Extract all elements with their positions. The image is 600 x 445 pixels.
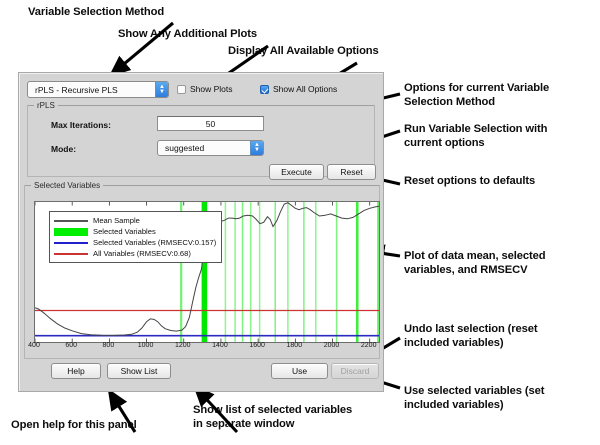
x-axis-tick-label: 2000 [324,342,340,349]
legend-label: All Variables (RMSECV:0.68) [93,249,191,258]
selected-variable-band [287,202,288,342]
legend-item: All Variables (RMSECV:0.68) [54,248,216,259]
legend-line-icon [54,242,88,244]
reset-button[interactable]: Reset [327,164,376,180]
legend-item: Mean Sample [54,215,216,226]
variable-selection-method-value: rPLS - Recursive PLS [28,85,155,95]
show-list-button[interactable]: Show List [107,363,171,379]
callout-reset-options-to-defaults: Reset options to defaults [404,175,535,189]
execute-button[interactable]: Execute [269,164,324,180]
legend-swatch-icon [54,228,88,236]
legend-item: Selected Variables [54,226,216,237]
mode-combo[interactable]: suggested ▲▼ [157,140,264,156]
x-axis-tick-label: 2200 [361,342,377,349]
checkbox-box-checked[interactable] [260,85,269,94]
legend-key-line [54,216,88,225]
callout-display-all-available-options: Display All Available Options [228,45,379,59]
callout-run-variable-selection: Run Variable Selection with current opti… [404,123,547,150]
x-axis-tick-labels: 4006008001000120014001600180020002200 [34,342,378,354]
selected-variable-band [356,202,359,342]
show-all-options-label: Show All Options [273,84,337,94]
legend-line-icon [54,220,88,222]
mode-value: suggested [158,143,250,153]
x-axis-tick-label: 1200 [175,342,191,349]
callout-show-any-additional-plots: Show Any Additional Plots [118,28,257,42]
x-axis-tick-label: 1600 [249,342,265,349]
x-axis-tick-label: 1000 [138,342,154,349]
legend-key-swatch [54,227,88,236]
legend-key-line [54,238,88,247]
selected-variable-band [242,202,243,342]
callout-variable-selection-method: Variable Selection Method [28,6,164,20]
discard-button: Discard [331,363,379,379]
legend-label: Selected Variables (RMSECV:0.157) [93,238,216,247]
selected-variable-band [234,202,235,342]
legend-key-line [54,249,88,258]
x-axis-tick-label: 1800 [287,342,303,349]
chevron-updown-icon[interactable]: ▲▼ [155,82,168,97]
show-plots-label: Show Plots [190,84,233,94]
legend-label: Mean Sample [93,216,140,225]
x-axis-tick-label: 600 [65,342,77,349]
selected-variable-band [377,202,379,342]
variable-selection-method-combo[interactable]: rPLS - Recursive PLS ▲▼ [27,81,169,98]
legend-line-icon [54,253,88,255]
selected-variable-band [315,202,316,342]
show-plots-checkbox[interactable]: Show Plots [177,84,233,94]
max-iterations-input[interactable]: 50 [157,116,264,131]
x-axis-tick-label: 400 [28,342,40,349]
callout-plot-of-data-mean: Plot of data mean, selected variables, a… [404,250,546,277]
legend-item: Selected Variables (RMSECV:0.157) [54,237,216,248]
selected-variable-band [303,202,304,342]
selected-variables-plot[interactable]: Mean SampleSelected VariablesSelected Va… [34,201,380,343]
plot-legend: Mean SampleSelected VariablesSelected Va… [49,211,222,263]
selected-variable-band [250,202,251,342]
options-group-title: rPLS [34,101,58,110]
chevron-updown-icon[interactable]: ▲▼ [250,141,263,155]
help-button[interactable]: Help [51,363,101,379]
callout-options-for-current-method: Options for current Variable Selection M… [404,82,549,109]
mode-label: Mode: [51,144,76,154]
variable-selection-panel: rPLS - Recursive PLS ▲▼ Show Plots Show … [18,72,384,392]
legend-label: Selected Variables [93,227,156,236]
selected-variable-band [225,202,226,342]
use-button[interactable]: Use [271,363,328,379]
callout-use-selected-variables: Use selected variables (set included var… [404,385,544,412]
selected-variable-band [336,202,337,342]
x-axis-tick-label: 1400 [212,342,228,349]
callout-open-help-for-this-panel: Open help for this panel [11,419,137,433]
callout-undo-last-selection: Undo last selection (reset included vari… [404,323,538,350]
x-axis-tick-label: 800 [103,342,115,349]
checkbox-box[interactable] [177,85,186,94]
max-iterations-label: Max Iterations: [51,120,111,130]
show-all-options-checkbox[interactable]: Show All Options [260,84,337,94]
callout-show-list-of-selected: Show list of selected variables in separ… [193,404,352,431]
max-iterations-value: 50 [206,119,215,129]
